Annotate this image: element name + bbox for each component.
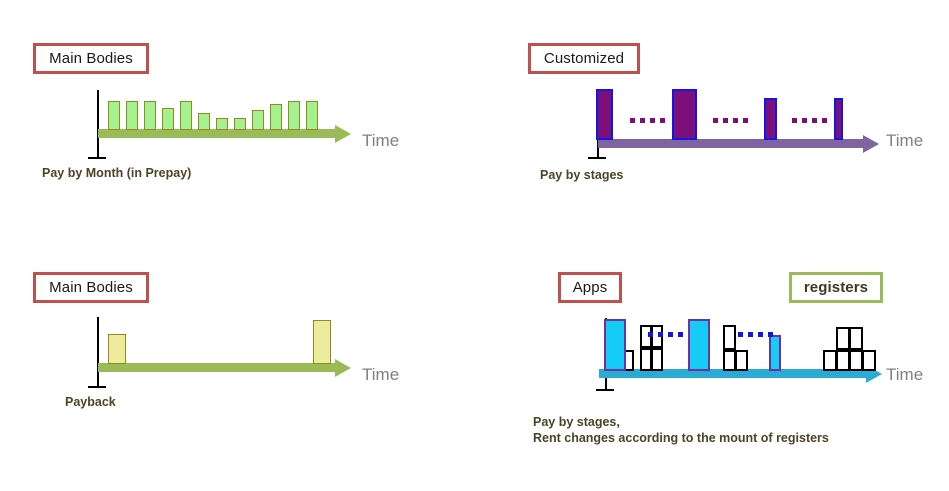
time-axis-line-bottom-left: [98, 363, 335, 372]
chip-main-bodies-top[interactable]: Main Bodies: [33, 43, 149, 74]
origin-tick-top-left: [88, 157, 106, 159]
chip-registers[interactable]: registers: [789, 272, 883, 303]
bar-month-10: [270, 104, 282, 130]
bar-app-stage-3: [769, 335, 781, 371]
time-axis-arrow-top-left: [335, 125, 351, 143]
bar-month-11: [288, 101, 300, 130]
time-label-bottom-left: Time: [362, 365, 399, 385]
register-box-6: [723, 325, 736, 350]
bar-app-stage-2: [688, 319, 710, 371]
register-box-12: [849, 327, 863, 350]
time-label-top-right: Time: [886, 131, 923, 151]
separator-dots-2: [713, 118, 748, 123]
bar-month-6: [198, 113, 210, 130]
diagram-canvas: Main Bodies Time Pay by Month (in Prepay…: [0, 0, 949, 491]
separator-dots-1: [630, 118, 665, 123]
bar-month-8: [234, 118, 246, 130]
caption-pay-by-stages: Pay by stages: [540, 167, 623, 183]
register-box-8: [735, 350, 748, 371]
origin-axis-bottom-left: [97, 317, 99, 387]
caption-payback: Payback: [65, 394, 116, 410]
time-axis-arrow-top-right: [863, 135, 879, 153]
bar-stage-2: [672, 89, 697, 140]
time-label-bottom-right: Time: [886, 365, 923, 385]
bar-payback-final: [313, 320, 331, 364]
origin-tick-top-right: [588, 157, 606, 159]
bar-month-7: [216, 118, 228, 130]
chip-label: Customized: [544, 50, 624, 67]
chip-apps[interactable]: Apps: [558, 272, 622, 303]
bar-month-1: [108, 101, 120, 130]
bar-month-2: [126, 101, 138, 130]
bar-app-stage-1: [604, 319, 626, 371]
origin-tick-bottom-left: [88, 386, 106, 388]
bar-month-4: [162, 108, 174, 130]
bar-stage-4: [834, 98, 843, 140]
bar-month-9: [252, 110, 264, 130]
chip-label: Main Bodies: [49, 279, 133, 296]
bar-month-12: [306, 101, 318, 130]
chip-main-bodies-bottom[interactable]: Main Bodies: [33, 272, 149, 303]
time-axis-arrow-bottom-left: [335, 359, 351, 377]
separator-dots-3: [792, 118, 827, 123]
caption-apps-line2: Rent changes according to the mount of r…: [533, 430, 829, 446]
register-box-10: [836, 327, 850, 350]
bar-stage-3: [764, 98, 777, 140]
caption-pay-by-month: Pay by Month (in Prepay): [42, 165, 191, 181]
time-axis-line-top-right: [598, 139, 863, 148]
bar-payback-first: [108, 334, 126, 364]
time-label-top-left: Time: [362, 131, 399, 151]
register-box-14: [862, 350, 876, 371]
register-box-13: [849, 350, 863, 371]
register-box-11: [836, 350, 850, 371]
bar-stage-1: [596, 89, 613, 140]
chip-label: registers: [804, 279, 868, 296]
separator-dots-5: [738, 332, 773, 337]
bar-month-5: [180, 101, 192, 130]
bar-month-3: [144, 101, 156, 130]
register-box-5: [651, 348, 663, 371]
origin-axis-top-left: [97, 90, 99, 158]
register-box-9: [823, 350, 837, 371]
caption-apps-line1: Pay by stages,: [533, 414, 620, 430]
time-axis-line-top-left: [98, 129, 335, 138]
chip-label: Main Bodies: [49, 50, 133, 67]
separator-dots-4: [648, 332, 683, 337]
origin-tick-bottom-right: [596, 389, 614, 391]
chip-customized[interactable]: Customized: [528, 43, 640, 74]
chip-label: Apps: [573, 279, 608, 296]
